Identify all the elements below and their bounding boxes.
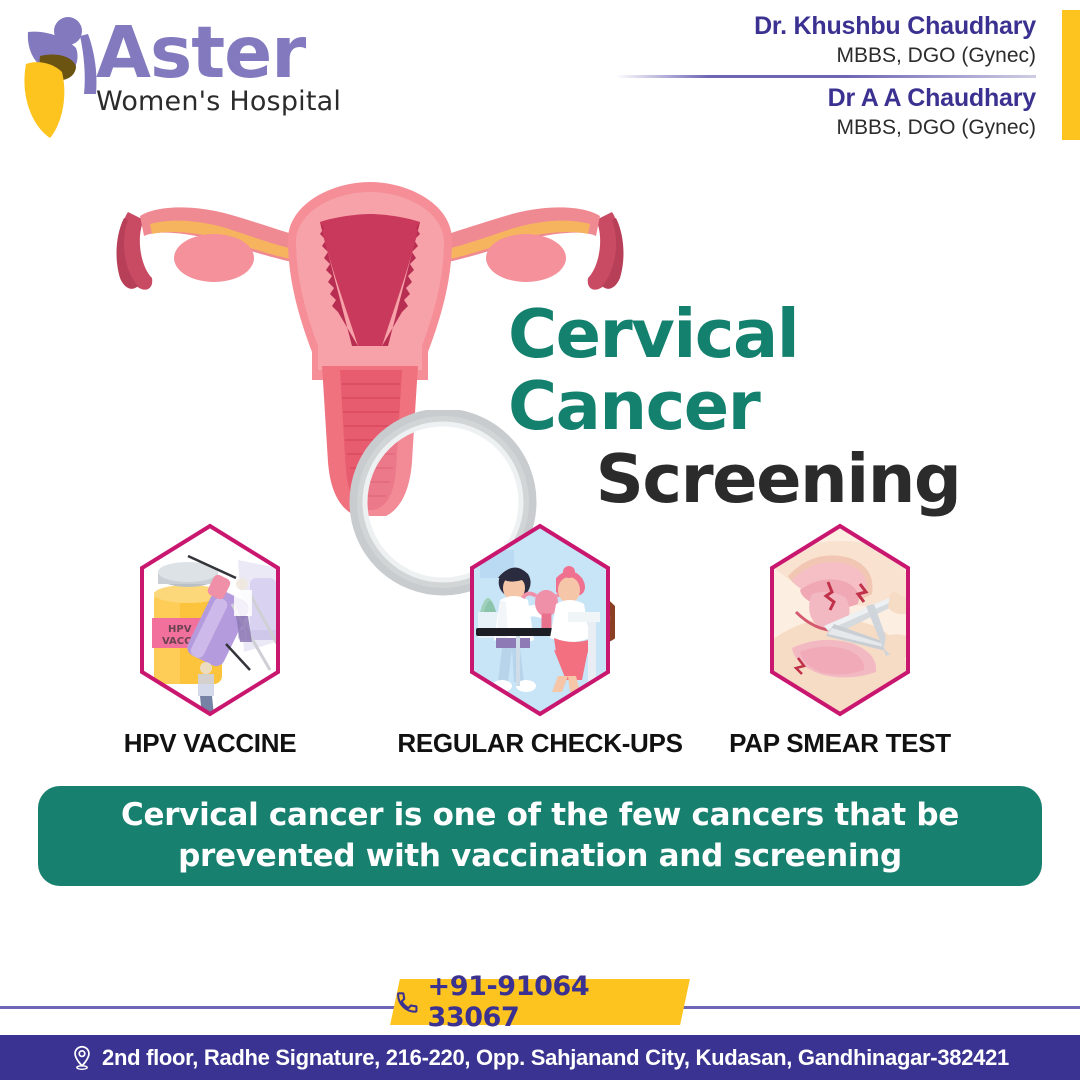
- doctor-entry-2: Dr A A Chaudhary MBBS, DGO (Gynec): [616, 82, 1036, 141]
- feature-regular-checkups[interactable]: REGULAR CHECK-UPS: [390, 520, 690, 759]
- feature-pap-smear-test[interactable]: PAP SMEAR TEST: [690, 520, 990, 759]
- hpv-vaccine-vial-icon: HPV VACCINE: [110, 520, 310, 720]
- banner-text: Cervical cancer is one of the few cancer…: [38, 795, 1042, 877]
- poster-canvas: Aster Women's Hospital Dr. Khushbu Chaud…: [0, 0, 1080, 1080]
- svg-text:HPV: HPV: [168, 624, 192, 635]
- title-line-1: Cervical Cancer: [508, 298, 1048, 442]
- feature-label: PAP SMEAR TEST: [690, 728, 990, 759]
- doctor-divider: [616, 75, 1036, 78]
- doctor-degrees: MBBS, DGO (Gynec): [616, 42, 1036, 69]
- phone-handset-icon: [395, 990, 420, 1015]
- hex-frame: HPV VACCINE: [110, 520, 310, 720]
- features-section: HPV VACCINE: [0, 520, 1080, 760]
- feature-label: HPV VACCINE: [60, 728, 360, 759]
- brand-name: Aster: [96, 16, 356, 90]
- doctor-consultation-icon: [440, 520, 640, 720]
- doctor-entry-1: Dr. Khushbu Chaudhary MBBS, DGO (Gynec): [616, 10, 1036, 69]
- doctor-list: Dr. Khushbu Chaudhary MBBS, DGO (Gynec) …: [616, 10, 1036, 141]
- aster-figure-logo-icon: [18, 14, 100, 139]
- hex-frame: [740, 520, 940, 720]
- doctor-name: Dr. Khushbu Chaudhary: [616, 10, 1036, 42]
- page-title: Cervical Cancer Screening: [508, 298, 1048, 516]
- pap-smear-procedure-icon: [740, 520, 940, 720]
- address-bar: 2nd floor, Radhe Signature, 216-220, Opp…: [0, 1035, 1080, 1080]
- address-text: 2nd floor, Radhe Signature, 216-220, Opp…: [102, 1045, 1009, 1071]
- feature-hpv-vaccine[interactable]: HPV VACCINE: [60, 520, 360, 759]
- title-line-2: Screening: [508, 442, 1048, 516]
- hex-frame: [440, 520, 640, 720]
- brand-wordmark: Aster Women's Hospital: [96, 16, 356, 117]
- brand-logo[interactable]: Aster Women's Hospital: [18, 14, 348, 139]
- message-banner: Cervical cancer is one of the few cancer…: [38, 786, 1042, 886]
- header: Aster Women's Hospital Dr. Khushbu Chaud…: [0, 0, 1080, 150]
- location-pin-icon: [71, 1045, 93, 1071]
- phone-number: +91-91064 33067: [428, 971, 686, 1033]
- phone-contact[interactable]: +91-91064 33067: [395, 979, 685, 1025]
- feature-label: REGULAR CHECK-UPS: [390, 728, 690, 759]
- doctor-degrees: MBBS, DGO (Gynec): [616, 114, 1036, 141]
- doctor-name: Dr A A Chaudhary: [616, 82, 1036, 114]
- yellow-accent-bar: [1062, 10, 1080, 140]
- brand-tagline: Women's Hospital: [96, 86, 356, 117]
- hero-section: Cervical Cancer Screening: [0, 150, 1080, 520]
